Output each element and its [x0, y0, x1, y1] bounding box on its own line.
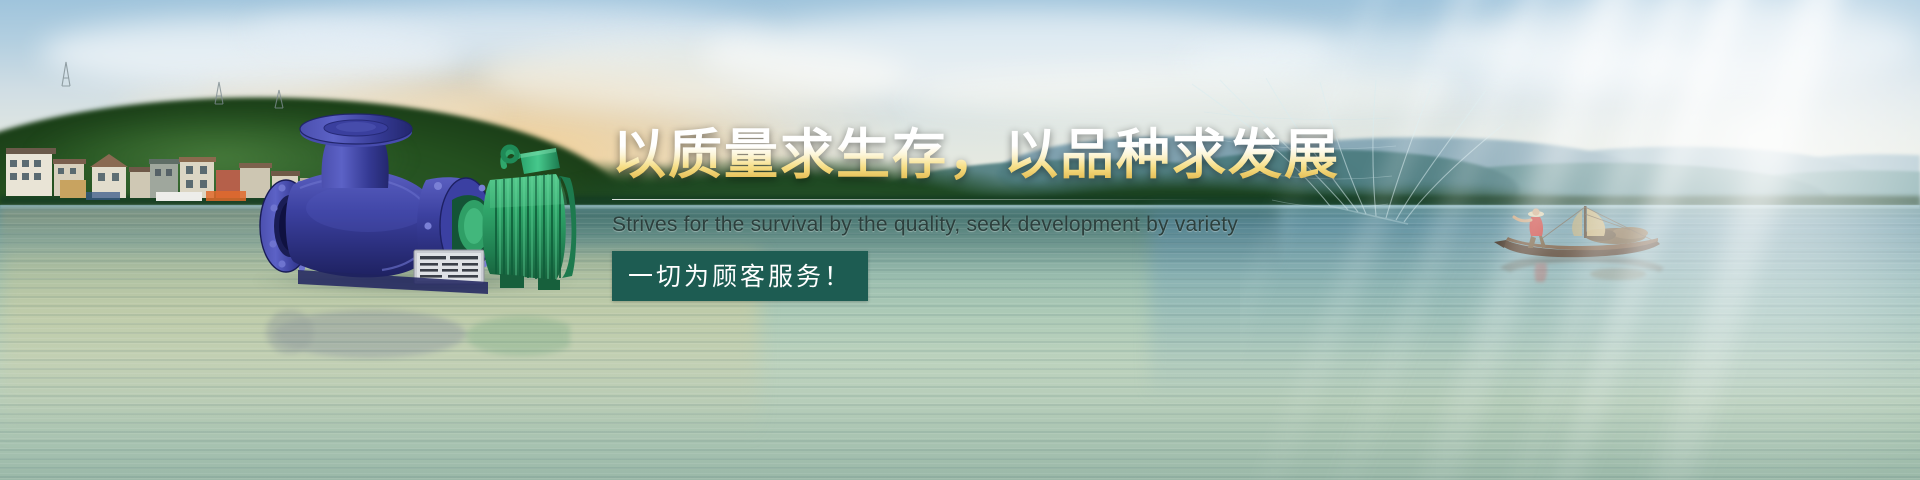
banner-copy: 以质量求生存，以品种求发展 Strives for the survival b… — [612, 124, 1612, 301]
headline-divider — [612, 199, 1212, 200]
pump-reflection — [250, 280, 570, 360]
hero-banner: 以质量求生存，以品种求发展 Strives for the survival b… — [0, 0, 1920, 480]
centrifugal-water-pump — [238, 104, 578, 299]
banner-subtitle: Strives for the survival by the quality,… — [612, 213, 1612, 237]
banner-headline: 以质量求生存，以品种求发展 — [612, 124, 1612, 188]
service-badge: 一切为顾客服务！ — [612, 251, 868, 301]
